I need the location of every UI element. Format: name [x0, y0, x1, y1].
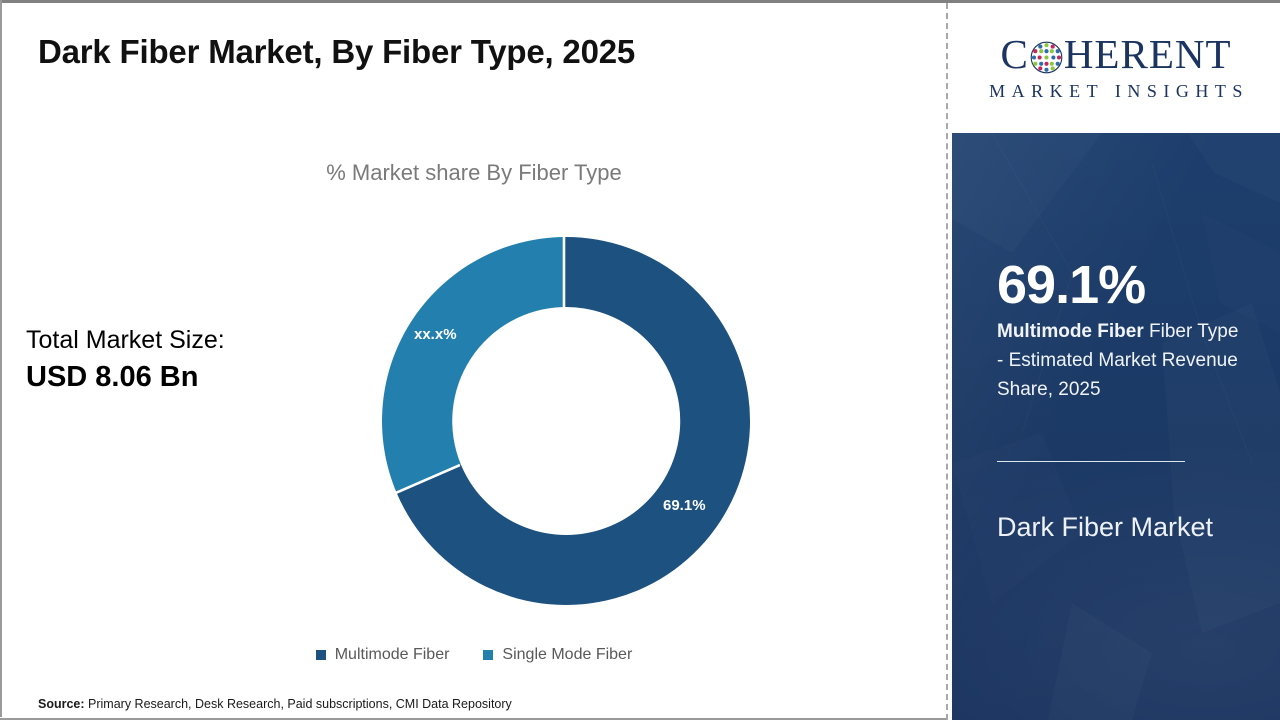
- right-rail: C: [952, 3, 1280, 720]
- globe-dots-icon: [1030, 40, 1063, 73]
- brand-name: C: [1000, 34, 1231, 75]
- brand-name-part-1: C: [1000, 34, 1028, 75]
- slice-label-multimode-fiber: 69.1%: [663, 497, 706, 514]
- panel-dashed-divider: [946, 3, 948, 720]
- stat-content: 69.1% Multimode Fiber Fiber Type - Estim…: [997, 258, 1247, 404]
- legend-swatch-icon: [316, 650, 326, 660]
- report-name: Dark Fiber Market: [997, 505, 1247, 549]
- chart-legend: Multimode Fiber Single Mode Fiber: [2, 646, 946, 664]
- stat-description-emphasis: Multimode Fiber: [997, 321, 1144, 342]
- total-market-size-value: USD 8.06 Bn: [26, 357, 225, 397]
- brand-name-part-2: HERENT: [1064, 34, 1232, 75]
- panel-background-texture: [952, 133, 1280, 720]
- total-market-size-label: Total Market Size:: [26, 323, 225, 357]
- brand-logo[interactable]: C: [952, 3, 1280, 133]
- legend-label: Single Mode Fiber: [502, 646, 632, 664]
- slice-label-single-mode-fiber: xx.x%: [414, 326, 457, 343]
- legend-swatch-icon: [483, 650, 493, 660]
- source-text: Primary Research, Desk Research, Paid su…: [85, 697, 512, 711]
- infographic-root: Dark Fiber Market, By Fiber Type, 2025 %…: [0, 0, 1280, 720]
- brand-tagline: MARKET INSIGHTS: [983, 81, 1249, 102]
- legend-label: Multimode Fiber: [335, 646, 450, 664]
- highlight-stat-panel: 69.1% Multimode Fiber Fiber Type - Estim…: [952, 133, 1280, 720]
- legend-item-single-mode-fiber[interactable]: Single Mode Fiber: [483, 646, 632, 664]
- legend-item-multimode-fiber[interactable]: Multimode Fiber: [316, 646, 450, 664]
- source-label: Source:: [38, 697, 85, 711]
- stat-value: 69.1%: [997, 258, 1247, 313]
- stat-divider-rule: [997, 461, 1185, 462]
- stat-description: Multimode Fiber Fiber Type - Estimated M…: [997, 317, 1247, 404]
- page-title: Dark Fiber Market, By Fiber Type, 2025: [38, 33, 635, 71]
- donut-chart: xx.x% 69.1%: [376, 233, 752, 609]
- donut-chart-svg: [376, 233, 752, 609]
- donut-slice-single-mode-fiber[interactable]: [382, 237, 564, 493]
- source-line: Source: Primary Research, Desk Research,…: [38, 697, 512, 711]
- total-market-size-block: Total Market Size: USD 8.06 Bn: [26, 323, 225, 397]
- main-chart-panel: Dark Fiber Market, By Fiber Type, 2025 %…: [2, 3, 946, 718]
- chart-subtitle: % Market share By Fiber Type: [2, 160, 946, 186]
